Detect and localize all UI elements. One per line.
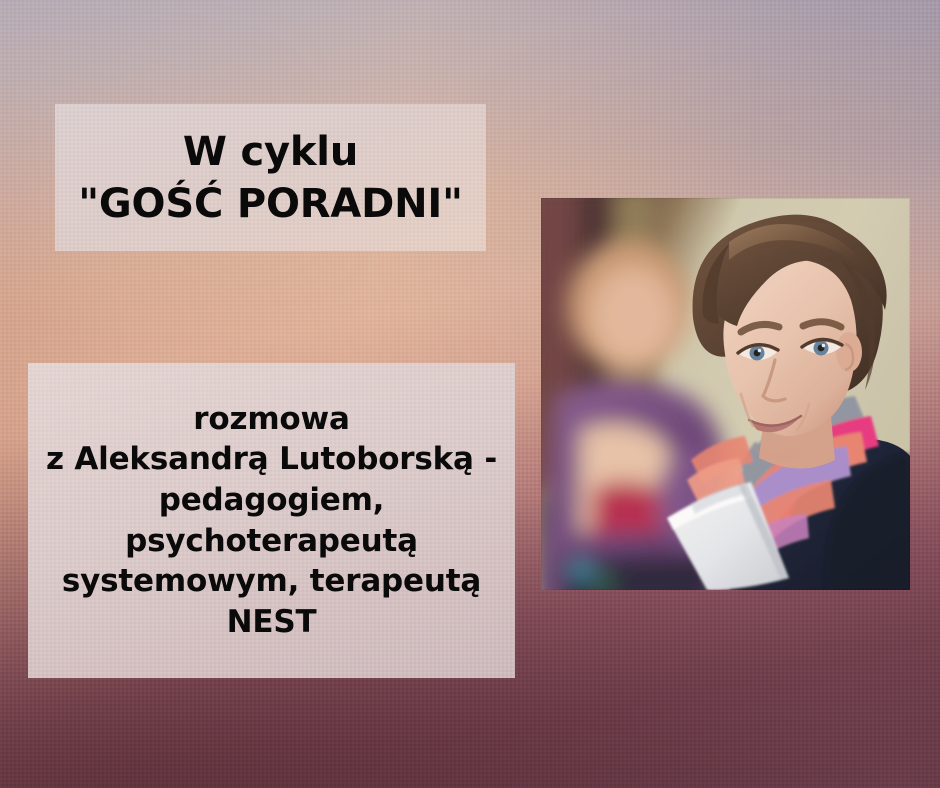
- description-panel: rozmowa z Aleksandrą Lutoborską - pedago…: [28, 363, 515, 678]
- description-text-block: rozmowa z Aleksandrą Lutoborską - pedago…: [40, 399, 503, 643]
- description-line-3: pedagogiem,: [46, 480, 497, 521]
- title-line-1: W cyklu: [183, 126, 358, 178]
- title-panel: W cyklu "GOŚĆ PORADNI": [55, 104, 486, 251]
- description-line-2: z Aleksandrą Lutoborską -: [46, 439, 497, 480]
- poster-canvas: W cyklu "GOŚĆ PORADNI" rozmowa z Aleksan…: [0, 0, 940, 788]
- description-line-5: systemowym, terapeutą: [46, 561, 497, 602]
- description-line-4: psychoterapeutą: [46, 521, 497, 562]
- description-line-6: NEST: [46, 602, 497, 643]
- portrait-illustration: [541, 198, 910, 590]
- title-line-2: "GOŚĆ PORADNI": [78, 178, 462, 230]
- description-line-1: rozmowa: [46, 399, 497, 440]
- guest-portrait-photo: [541, 198, 910, 590]
